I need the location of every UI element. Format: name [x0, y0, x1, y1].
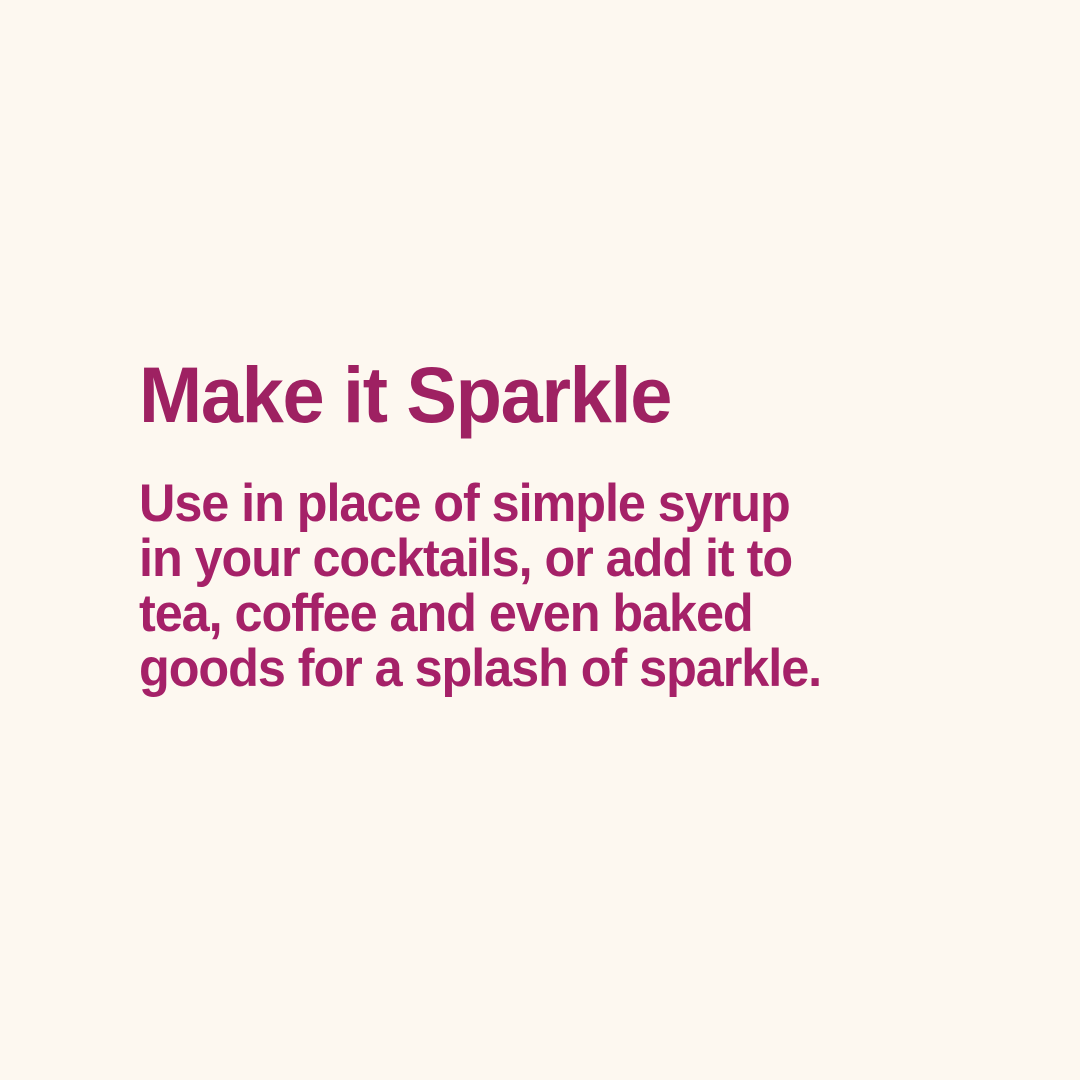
content-block: Make it Sparkle Use in place of simple s… — [139, 355, 959, 696]
page-title: Make it Sparkle — [139, 355, 926, 434]
body-paragraph: Use in place of simple syrup in your coc… — [139, 476, 959, 696]
text-card: Make it Sparkle Use in place of simple s… — [0, 0, 1080, 1080]
body-line-4: goods for a splash of sparkle. — [139, 641, 918, 696]
body-line-2: in your cocktails, or add it to — [139, 531, 918, 586]
body-line-3: tea, coffee and even baked — [139, 586, 918, 641]
body-line-1: Use in place of simple syrup — [139, 476, 918, 531]
